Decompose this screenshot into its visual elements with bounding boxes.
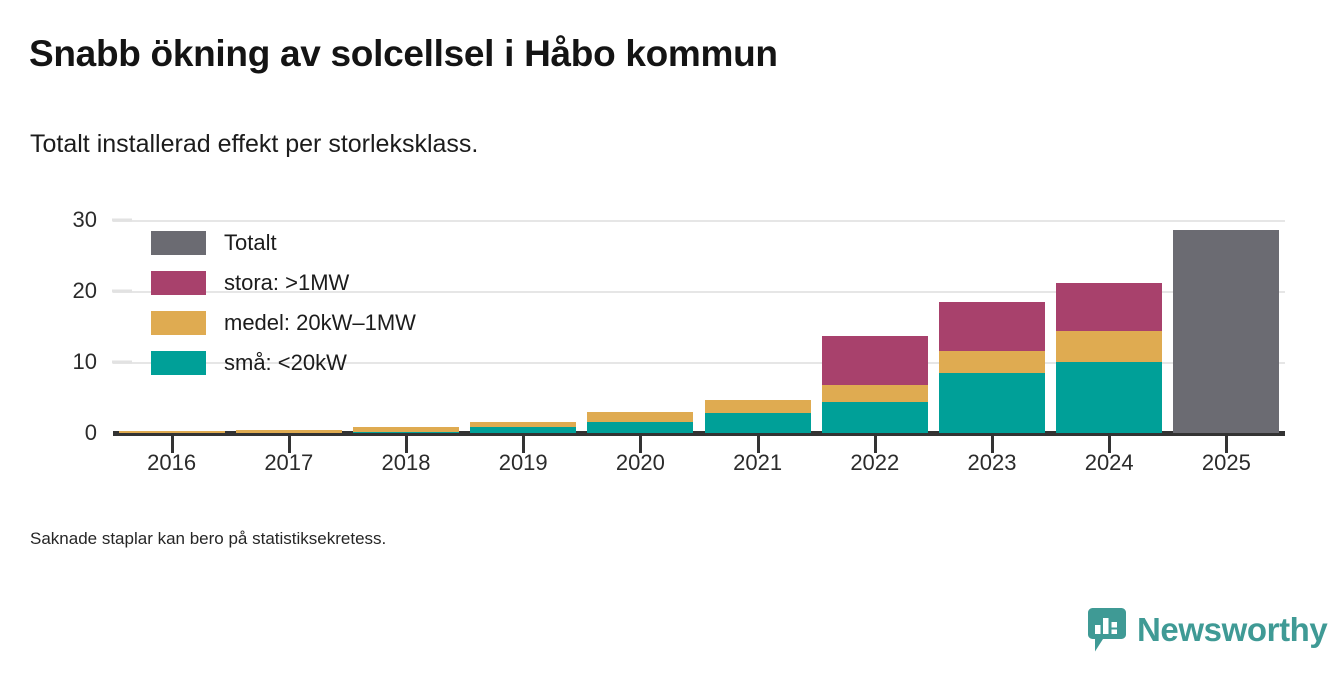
bar-group-2022[interactable] — [822, 336, 928, 433]
bar-group-2025[interactable] — [1173, 230, 1279, 433]
chart-footnote: Saknade staplar kan bero på statistiksek… — [30, 529, 386, 549]
bar-segment — [939, 302, 1045, 352]
bar-segment — [939, 351, 1045, 372]
bar-chart-speech-bubble-icon — [1088, 608, 1126, 652]
bar-segment — [1056, 331, 1162, 362]
legend-item[interactable]: medel: 20kW–1MW — [151, 309, 416, 336]
ytick-label-0: 0 — [27, 420, 97, 446]
ytick-dash-10 — [112, 361, 132, 364]
gridline-30 — [113, 220, 1285, 222]
xtick-label-2017: 2017 — [264, 450, 313, 476]
bar-segment — [822, 336, 928, 385]
xtick-label-2020: 2020 — [616, 450, 665, 476]
bar-group-2023[interactable] — [939, 302, 1045, 433]
bar-segment — [236, 430, 342, 433]
xtick-label-2024: 2024 — [1085, 450, 1134, 476]
ytick-dash-20 — [112, 290, 132, 293]
bar-group-2019[interactable] — [470, 422, 576, 433]
bar-segment — [587, 412, 693, 422]
legend-item[interactable]: stora: >1MW — [151, 269, 416, 296]
bar-segment — [705, 413, 811, 433]
legend-swatch — [151, 231, 206, 255]
bar-group-2018[interactable] — [353, 427, 459, 433]
legend-label: Totalt — [224, 230, 277, 256]
xtick-label-2016: 2016 — [147, 450, 196, 476]
logo-wordmark: Newsworthy — [1137, 611, 1327, 649]
legend-item[interactable]: små: <20kW — [151, 349, 416, 376]
xtick-label-2023: 2023 — [968, 450, 1017, 476]
xtick-label-2021: 2021 — [733, 450, 782, 476]
xtick-label-2025: 2025 — [1202, 450, 1251, 476]
bar-segment — [1056, 283, 1162, 332]
bar-segment — [119, 431, 225, 433]
ytick-label-30: 30 — [27, 207, 97, 233]
chart-legend: Totaltstora: >1MWmedel: 20kW–1MWsmå: <20… — [151, 229, 416, 376]
newsworthy-logo[interactable]: Newsworthy — [1088, 608, 1327, 652]
bar-segment — [1173, 230, 1279, 433]
bar-segment — [353, 432, 459, 433]
legend-swatch — [151, 311, 206, 335]
xtick-label-2018: 2018 — [382, 450, 431, 476]
legend-swatch — [151, 351, 206, 375]
xtick-label-2019: 2019 — [499, 450, 548, 476]
legend-label: stora: >1MW — [224, 270, 349, 296]
bar-group-2020[interactable] — [587, 412, 693, 433]
legend-label: medel: 20kW–1MW — [224, 310, 416, 336]
bar-segment — [1056, 362, 1162, 433]
xtick-label-2022: 2022 — [850, 450, 899, 476]
ytick-label-20: 20 — [27, 278, 97, 304]
legend-label: små: <20kW — [224, 350, 347, 376]
bar-segment — [705, 400, 811, 413]
ytick-dash-30 — [112, 219, 132, 222]
legend-item[interactable]: Totalt — [151, 229, 416, 256]
ytick-label-10: 10 — [27, 349, 97, 375]
bar-group-2024[interactable] — [1056, 283, 1162, 434]
bar-segment — [470, 427, 576, 433]
bar-group-2021[interactable] — [705, 400, 811, 433]
bar-segment — [939, 373, 1045, 433]
bar-group-2017[interactable] — [236, 430, 342, 433]
bar-segment — [587, 422, 693, 433]
chart-page: Snabb ökning av solcellsel i Håbo kommun… — [0, 0, 1340, 685]
bar-group-2016[interactable] — [119, 431, 225, 433]
legend-swatch — [151, 271, 206, 295]
bar-segment — [822, 402, 928, 433]
bar-segment — [822, 385, 928, 403]
